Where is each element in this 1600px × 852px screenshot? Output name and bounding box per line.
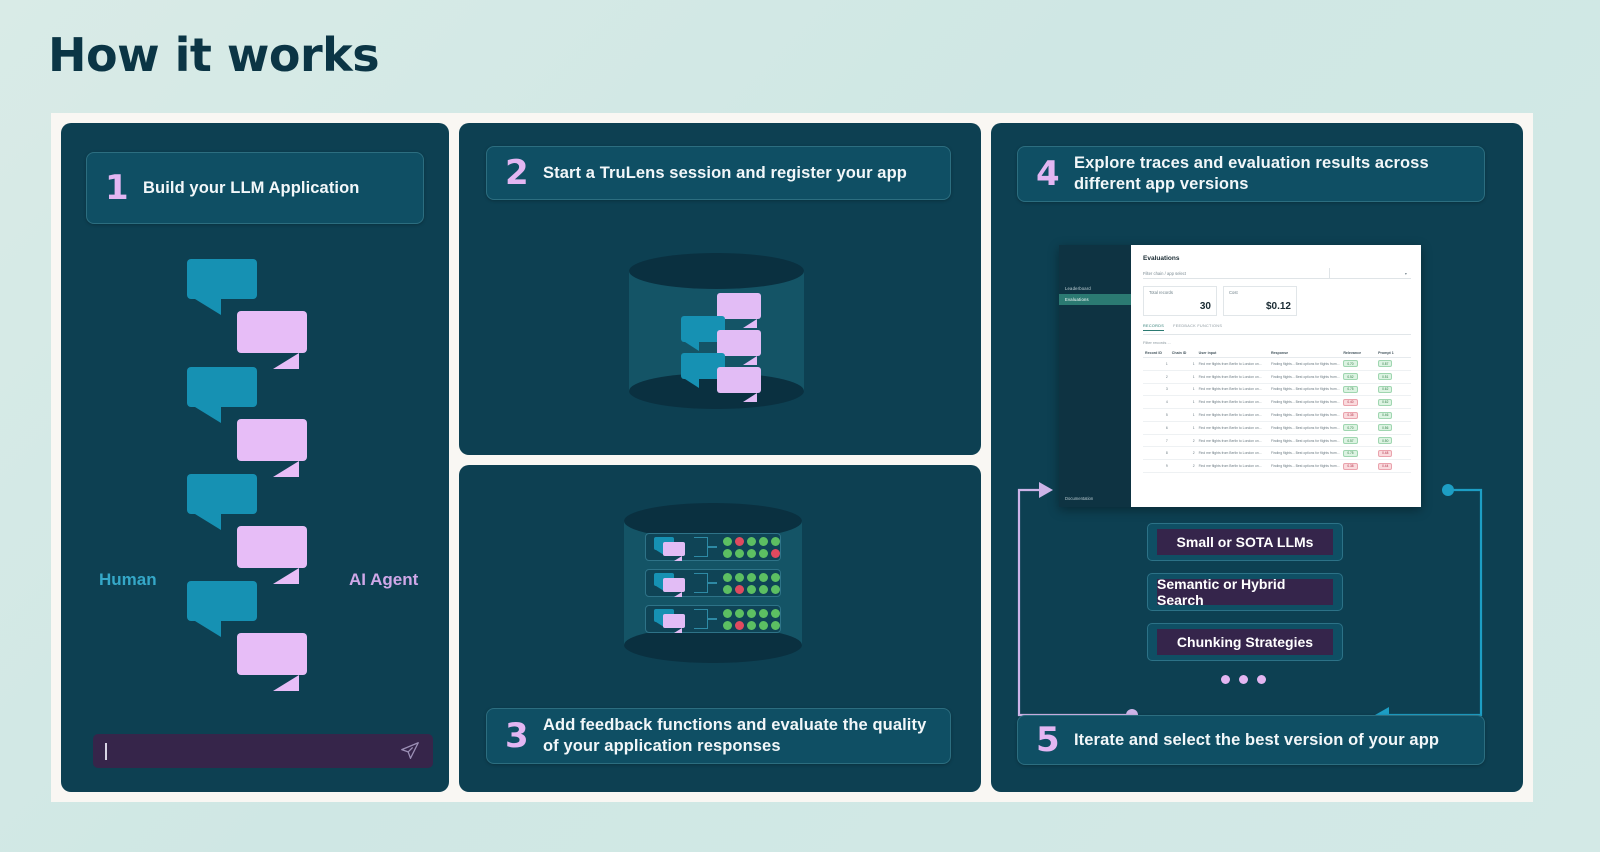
cell-chain-id: 1 [1170,421,1197,434]
dot [1257,675,1266,684]
step-4-header: 4 Explore traces and evaluation results … [1017,146,1485,202]
chip-small-or-sota-llms[interactable]: Small or SOTA LLMs [1147,523,1343,561]
chat-transcript [61,243,449,713]
chat-bubble-agent [237,526,307,568]
records-table: Record ID Chain ID User input Response R… [1143,349,1411,473]
cell-relevance: 0.75 [1341,447,1376,460]
filter-label: Filter chain / app select [1143,271,1186,276]
database-cylinder-sessions [629,253,804,408]
cell-response: Finding flights... Best options for flig… [1269,409,1341,422]
panel-steps-4-5: 4 Explore traces and evaluation results … [991,123,1523,792]
tab-feedback-functions[interactable]: FEEDBACK FUNCTIONS [1173,324,1222,331]
cell-prompt: 0.62 [1376,383,1411,396]
step-5-number: 5 [1036,723,1074,757]
page-title: How it works [48,28,379,82]
cell-chain-id: 1 [1170,358,1197,371]
col-relevance: Relevance [1341,349,1376,358]
feedback-dot-grid [723,537,780,558]
cell-record-id: 7 [1143,434,1170,447]
ai-agent-role-label: AI Agent [349,570,418,590]
step-2-label: Start a TruLens session and register you… [543,163,907,184]
chat-pair-icon [654,608,690,630]
metric-label: Cost [1229,290,1291,295]
panel-step-2: 2 Start a TruLens session and register y… [459,123,981,455]
more-options-ellipsis [1221,675,1266,684]
chip-semantic-or-hybrid-search[interactable]: Semantic or Hybrid Search [1147,573,1343,611]
feedback-dot-grid [723,609,780,630]
sidebar-item-documentation[interactable]: Documentation [1065,496,1093,501]
metric-cost: Cost $0.12 [1223,286,1297,316]
metric-value: 30 [1149,301,1211,312]
feedback-dot-grid [723,573,780,594]
column-steps-2-3: 2 Start a TruLens session and register y… [459,123,981,792]
chat-pair-icon [654,536,690,558]
table-row[interactable]: 72Find me flights from Berlin to London … [1143,434,1411,447]
cell-user-input: Find me flights from Berlin to London on… [1197,421,1269,434]
cell-chain-id: 2 [1170,447,1197,460]
cell-response: Finding flights... Best options for flig… [1269,460,1341,473]
cell-relevance: 0.35 [1341,409,1376,422]
cell-user-input: Find me flights from Berlin to London on… [1197,409,1269,422]
step-5-header: 5 Iterate and select the best version of… [1017,715,1485,765]
cell-record-id: 9 [1143,460,1170,473]
panel-step-3: 3 Add feedback functions and evaluate th… [459,465,981,792]
chat-bubble-agent [237,419,307,461]
cell-prompt: 0.48 [1376,447,1411,460]
chat-bubble-human [187,581,257,621]
col-chain-id: Chain ID [1170,349,1197,358]
step-1-header: 1 Build your LLM Application [86,152,424,224]
feedback-row [645,605,781,633]
cell-record-id: 6 [1143,421,1170,434]
cell-chain-id: 2 [1170,434,1197,447]
cell-record-id: 1 [1143,358,1170,371]
cell-relevance: 0.70 [1341,358,1376,371]
bracket-icon [694,573,708,593]
cell-record-id: 8 [1143,447,1170,460]
cell-relevance: 0.38 [1341,460,1376,473]
col-record-id: Record ID [1143,349,1170,358]
dashboard-title: Evaluations [1143,255,1411,262]
cell-relevance: 0.40 [1341,396,1376,409]
mini-chat-bubble-agent [717,330,761,356]
table-row[interactable]: 11Find me flights from Berlin to London … [1143,358,1411,371]
cell-prompt: 0.87 [1376,358,1411,371]
records-filter-input[interactable]: Filter records ... [1143,335,1411,349]
connector-line [708,618,717,620]
col-user-input: User input [1197,349,1269,358]
step-1-label: Build your LLM Application [143,178,359,199]
cell-user-input: Find me flights from Berlin to London on… [1197,396,1269,409]
records-table-body: 11Find me flights from Berlin to London … [1143,358,1411,473]
panel-step-1: 1 Build your LLM Application [61,123,449,792]
how-it-works-board: 1 Build your LLM Application [51,113,1533,802]
dashboard-metrics: Total records 30 Cost $0.12 [1143,286,1411,316]
tab-records[interactable]: RECORDS [1143,324,1164,331]
table-row[interactable]: 92Find me flights from Berlin to London … [1143,460,1411,473]
chat-pair-icon [654,572,690,594]
cell-user-input: Find me flights from Berlin to London on… [1197,447,1269,460]
cell-chain-id: 1 [1170,370,1197,383]
feedback-row [645,533,781,561]
connector-line [708,582,717,584]
cell-response: Finding flights... Best options for flig… [1269,370,1341,383]
text-cursor [105,743,107,760]
sidebar-item-leaderboard[interactable]: Leaderboard [1059,283,1131,294]
bracket-icon [694,609,708,629]
cell-relevance: 0.57 [1341,434,1376,447]
metric-total-records: Total records 30 [1143,286,1217,316]
dashboard-tabs: RECORDS FEEDBACK FUNCTIONS [1143,324,1411,335]
mini-chat-bubble-agent [717,367,761,393]
cell-relevance: 0.70 [1341,421,1376,434]
cell-user-input: Find me flights from Berlin to London on… [1197,434,1269,447]
cell-record-id: 2 [1143,370,1170,383]
chat-input-field[interactable] [93,734,433,768]
step-2-number: 2 [505,156,543,190]
cell-user-input: Find me flights from Berlin to London on… [1197,383,1269,396]
cell-response: Finding flights... Best options for flig… [1269,421,1341,434]
dashboard-sidebar: Leaderboard Evaluations Documentation [1059,245,1131,507]
cell-response: Finding flights... Best options for flig… [1269,383,1341,396]
chevron-down-icon[interactable]: ▾ [1329,268,1411,278]
cell-user-input: Find me flights from Berlin to London on… [1197,370,1269,383]
cell-user-input: Find me flights from Berlin to London on… [1197,460,1269,473]
database-cylinder-feedback [624,503,802,663]
table-row[interactable]: 21Find me flights from Berlin to London … [1143,370,1411,383]
table-row[interactable]: 61Find me flights from Berlin to London … [1143,421,1411,434]
step-3-header: 3 Add feedback functions and evaluate th… [486,708,951,764]
chat-bubble-human [187,259,257,299]
cell-chain-id: 2 [1170,460,1197,473]
chat-bubble-agent [237,633,307,675]
cell-response: Finding flights... Best options for flig… [1269,396,1341,409]
col-prompt: Prompt 1 [1376,349,1411,358]
cell-record-id: 4 [1143,396,1170,409]
step-5-label: Iterate and select the best version of y… [1074,730,1439,751]
dot [1239,675,1248,684]
table-row[interactable]: 41Find me flights from Berlin to London … [1143,396,1411,409]
cell-prompt: 0.51 [1376,370,1411,383]
chip-label: Chunking Strategies [1157,629,1333,655]
table-row[interactable]: 51Find me flights from Berlin to London … [1143,409,1411,422]
chip-chunking-strategies[interactable]: Chunking Strategies [1147,623,1343,661]
table-row[interactable]: 82Find me flights from Berlin to London … [1143,447,1411,460]
paper-plane-icon[interactable] [399,740,421,762]
cell-prompt: 0.62 [1376,396,1411,409]
chat-bubble-agent [237,311,307,353]
trulens-dashboard-screenshot[interactable]: Leaderboard Evaluations Documentation Ev… [1059,245,1421,507]
connector-line [708,546,717,548]
dot [1221,675,1230,684]
cell-chain-id: 1 [1170,396,1197,409]
cell-chain-id: 1 [1170,409,1197,422]
human-role-label: Human [99,570,157,590]
col-response: Response [1269,349,1341,358]
cell-response: Finding flights... Best options for flig… [1269,447,1341,460]
cell-relevance: 0.52 [1341,370,1376,383]
cell-user-input: Find me flights from Berlin to London on… [1197,358,1269,371]
cell-response: Finding flights... Best options for flig… [1269,358,1341,371]
bracket-icon [694,537,708,557]
cell-chain-id: 1 [1170,383,1197,396]
step-2-header: 2 Start a TruLens session and register y… [486,146,951,200]
metric-label: Total records [1149,290,1211,295]
metric-value: $0.12 [1229,301,1291,312]
step-1-number: 1 [105,171,143,205]
chip-label: Small or SOTA LLMs [1157,529,1333,555]
chip-label: Semantic or Hybrid Search [1157,579,1333,605]
cell-relevance: 0.75 [1341,383,1376,396]
table-header-row: Record ID Chain ID User input Response R… [1143,349,1411,358]
cell-prompt: 0.46 [1376,409,1411,422]
cell-response: Finding flights... Best options for flig… [1269,434,1341,447]
step-4-number: 4 [1036,157,1074,191]
cell-prompt: 0.44 [1376,460,1411,473]
dashboard-main: Evaluations Filter chain / app select ▾ … [1131,245,1421,507]
step-3-number: 3 [505,719,543,753]
sidebar-item-evaluations[interactable]: Evaluations [1059,294,1131,305]
cell-record-id: 3 [1143,383,1170,396]
chat-bubble-human [187,474,257,514]
step-3-label: Add feedback functions and evaluate the … [543,715,932,756]
cell-record-id: 5 [1143,409,1170,422]
step-4-label: Explore traces and evaluation results ac… [1074,153,1466,194]
cell-prompt: 0.50 [1376,434,1411,447]
dashboard-filter-row[interactable]: Filter chain / app select ▾ [1143,268,1411,279]
table-row[interactable]: 31Find me flights from Berlin to London … [1143,383,1411,396]
cell-prompt: 0.56 [1376,421,1411,434]
feedback-row [645,569,781,597]
chat-bubble-human [187,367,257,407]
mini-chat-bubble-agent [717,293,761,319]
